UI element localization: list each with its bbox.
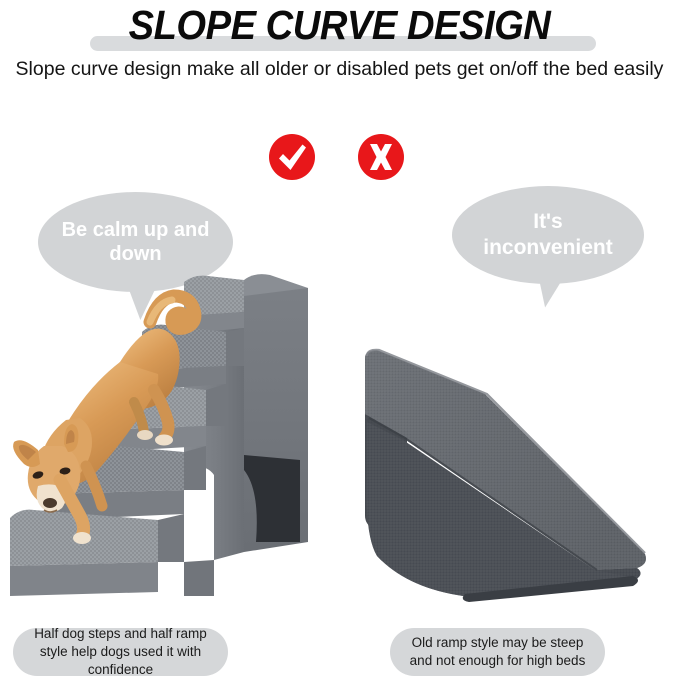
caption-right-text: Old ramp style may be steep and not enou… xyxy=(390,634,605,670)
page-title: SLOPE CURVE DESIGN xyxy=(24,2,655,48)
caption-pill-left: Half dog steps and half ramp style help … xyxy=(13,628,228,676)
product-photo-foam-ramp xyxy=(345,330,675,610)
cross-icon xyxy=(357,133,405,181)
speech-bubble-left-text: Be calm up and down xyxy=(38,218,233,267)
speech-bubble-right-text: It's inconvenient xyxy=(452,209,644,260)
speech-bubble-right-body: It's inconvenient xyxy=(452,186,644,284)
page-subtitle: Slope curve design make all older or dis… xyxy=(0,56,679,83)
caption-pill-right: Old ramp style may be steep and not enou… xyxy=(390,628,605,676)
check-icon xyxy=(268,133,316,181)
caption-left-text: Half dog steps and half ramp style help … xyxy=(13,625,228,680)
speech-bubble-right: It's inconvenient xyxy=(452,186,644,284)
product-photo-pet-stairs xyxy=(8,270,338,600)
infographic-page: SLOPE CURVE DESIGN Slope curve design ma… xyxy=(0,0,679,681)
